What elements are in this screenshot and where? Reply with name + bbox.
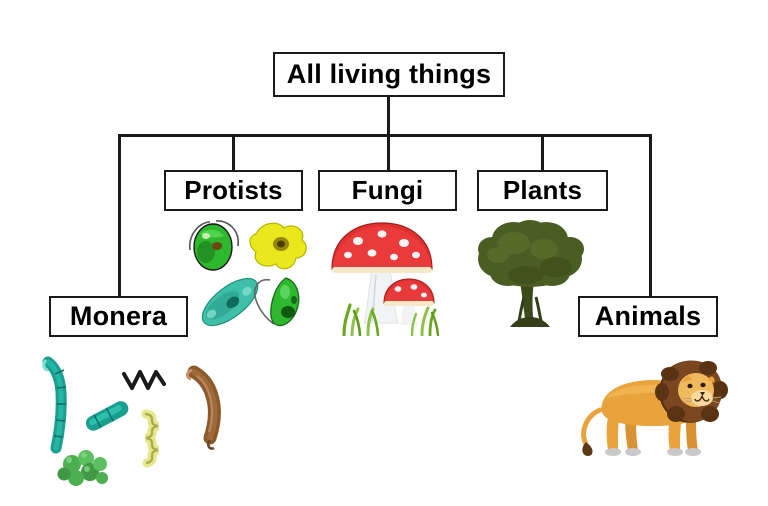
node-monera[interactable]: Monera [49,296,188,337]
lion-icon [572,352,732,470]
tree-icon [474,219,590,329]
connector-root-stem [387,97,390,136]
node-animals[interactable]: Animals [578,296,718,337]
protists-cluster-icon [182,216,310,334]
classification-diagram: All living things Protists Fungi Plants … [0,0,768,506]
node-protists-label: Protists [184,175,282,206]
node-fungi-label: Fungi [352,175,424,206]
node-plants[interactable]: Plants [477,170,608,211]
connector-drop-fungi [387,134,390,170]
node-all-living-things-label: All living things [287,59,491,90]
node-monera-label: Monera [70,301,167,332]
connector-drop-animals [649,134,652,296]
node-fungi[interactable]: Fungi [318,170,457,211]
node-all-living-things[interactable]: All living things [273,52,505,97]
bacteria-cluster-icon [34,352,230,488]
node-protists[interactable]: Protists [164,170,303,211]
node-animals-label: Animals [595,301,701,332]
connector-drop-plants [541,134,544,170]
connector-drop-protists [232,134,235,170]
mushrooms-icon [324,217,450,336]
connector-horizontal-bus [118,134,652,137]
node-plants-label: Plants [503,175,582,206]
connector-drop-monera [118,134,121,296]
